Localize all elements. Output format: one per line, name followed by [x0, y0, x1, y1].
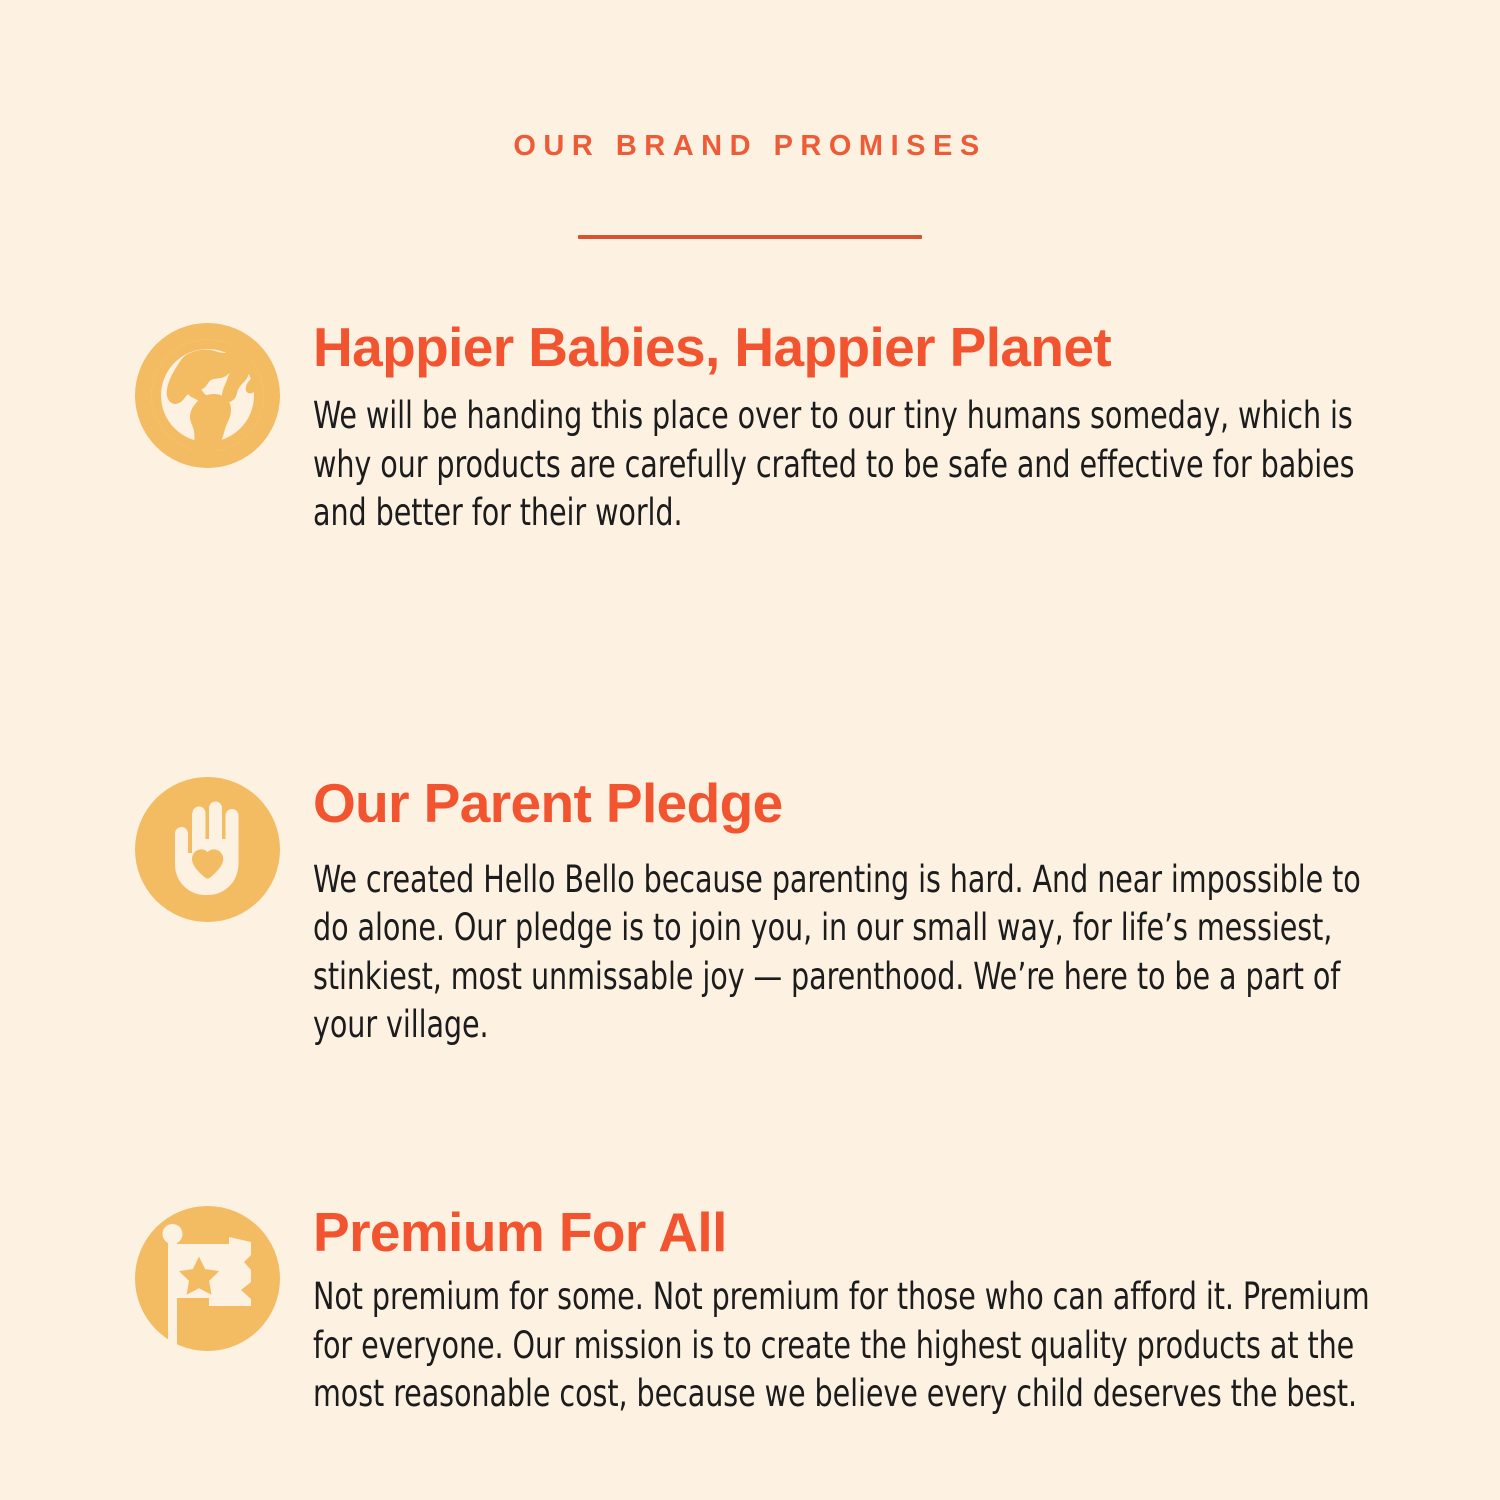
promise-title: Premium For All — [313, 1203, 1388, 1261]
flag-star-icon — [135, 1206, 280, 1351]
header-divider-wrap — [0, 235, 1500, 239]
promise-item: Our Parent Pledge We created Hello Bello… — [0, 772, 1500, 1050]
promise-copy: Happier Babies, Happier Planet We will b… — [280, 318, 1388, 538]
promise-copy: Premium For All Not premium for some. No… — [280, 1201, 1388, 1419]
promise-list: Happier Babies, Happier Planet We will b… — [0, 318, 1500, 1419]
promise-item: Premium For All Not premium for some. No… — [0, 1201, 1500, 1419]
page-header: OUR BRAND PROMISES — [0, 132, 1500, 161]
promise-body: Not premium for some. Not premium for th… — [313, 1273, 1385, 1418]
brand-promises-page: OUR BRAND PROMISES — [0, 0, 1500, 1500]
promise-title: Our Parent Pledge — [313, 774, 1388, 832]
promise-copy: Our Parent Pledge We created Hello Bello… — [280, 772, 1388, 1050]
promise-body: We created Hello Bello because parenting… — [313, 856, 1385, 1050]
header-divider — [578, 235, 922, 239]
page-title: OUR BRAND PROMISES — [0, 132, 1500, 161]
hand-heart-icon — [135, 777, 280, 922]
promise-title: Happier Babies, Happier Planet — [313, 318, 1388, 376]
globe-icon — [135, 323, 280, 468]
promise-item: Happier Babies, Happier Planet We will b… — [0, 318, 1500, 538]
promise-body: We will be handing this place over to ou… — [313, 392, 1385, 537]
